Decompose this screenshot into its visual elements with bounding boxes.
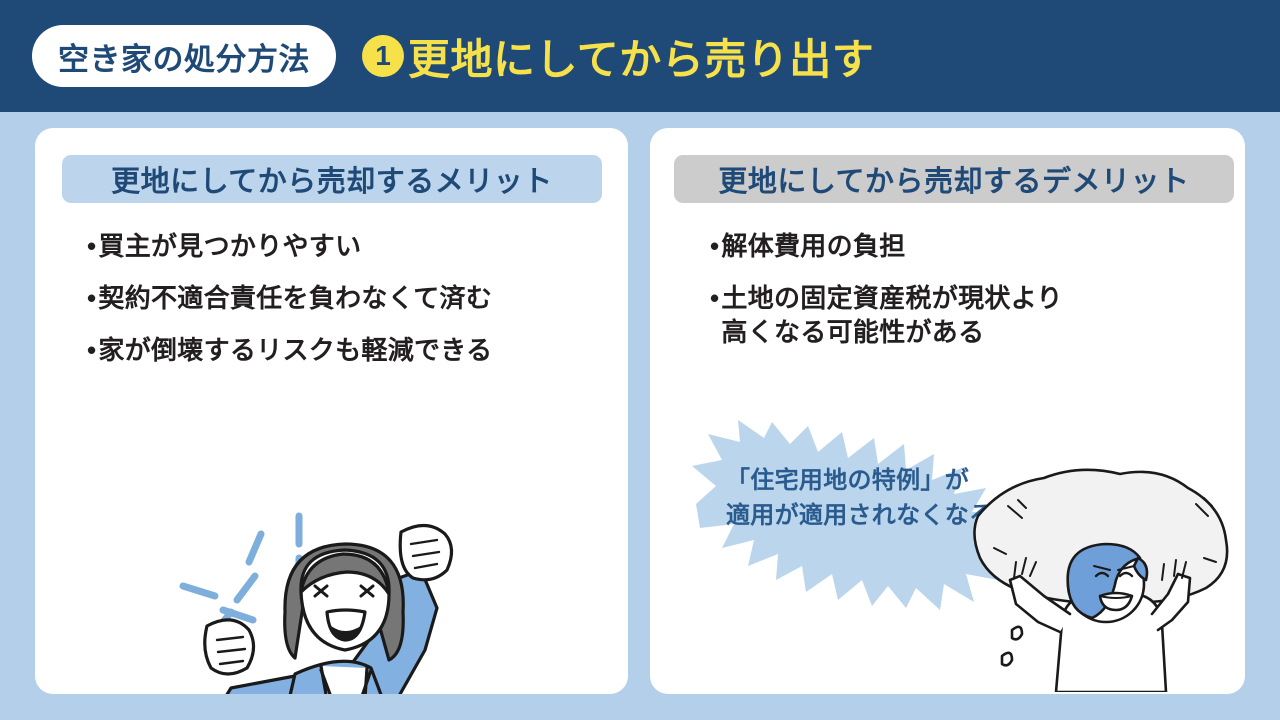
- right-fist: [400, 525, 451, 579]
- person-carrying-boulder-illustration: [960, 462, 1250, 692]
- cheering-woman-illustration: [175, 500, 515, 694]
- list-item-label: 買主が見つかりやすい: [98, 230, 361, 264]
- bullet-marker-icon: •: [710, 282, 719, 350]
- callout-line-2: 適用が適用されなくなる: [726, 499, 993, 534]
- list-item-label: 解体費用の負担: [721, 230, 905, 264]
- list-item-label: 家が倒壊するリスクも軽減できる: [98, 334, 492, 368]
- header-bar: 空き家の処分方法 1 更地にしてから売り出す: [0, 0, 1280, 112]
- header-badge: 空き家の処分方法: [32, 25, 336, 87]
- left-arm: [215, 676, 295, 694]
- list-item: • 家が倒壊するリスクも軽減できる: [87, 334, 608, 368]
- list-item: • 解体費用の負担: [710, 230, 1225, 264]
- bullet-marker-icon: •: [710, 230, 719, 264]
- list-item: • 土地の固定資産税が現状より 高くなる可能性がある: [710, 282, 1225, 350]
- sweat-drop: [1002, 653, 1012, 666]
- bullet-marker-icon: •: [87, 230, 96, 264]
- list-item-label: 土地の固定資産税が現状より 高くなる可能性がある: [721, 282, 1062, 350]
- page-title: 更地にしてから売り出す: [408, 26, 874, 87]
- bullet-marker-icon: •: [87, 334, 96, 368]
- left-fist: [205, 620, 254, 674]
- merit-card: 更地にしてから売却するメリット • 買主が見つかりやすい • 契約不適合責任を負…: [35, 128, 628, 694]
- bullet-marker-icon: •: [87, 282, 96, 316]
- callout-text: 「住宅用地の特例」が 適用が適用されなくなる: [726, 464, 993, 534]
- demerit-bullet-list: • 解体費用の負担 • 土地の固定資産税が現状より 高くなる可能性がある: [710, 230, 1225, 367]
- sparkle-lines-icon: [183, 516, 299, 632]
- list-item: • 契約不適合責任を負わなくて済む: [87, 282, 608, 316]
- header-title: 1 更地にしてから売り出す: [362, 26, 874, 87]
- demerit-card-heading: 更地にしてから売却するデメリット: [674, 155, 1234, 203]
- list-item-label: 契約不適合責任を負わなくて済む: [98, 282, 492, 316]
- merit-bullet-list: • 買主が見つかりやすい • 契約不適合責任を負わなくて済む • 家が倒壊するリ…: [87, 230, 608, 385]
- callout-line-1: 「住宅用地の特例」が: [726, 464, 993, 499]
- merit-card-heading: 更地にしてから売却するメリット: [62, 155, 602, 203]
- sweat-drop: [1012, 627, 1022, 640]
- list-item: • 買主が見つかりやすい: [87, 230, 608, 264]
- step-number-badge: 1: [362, 35, 404, 77]
